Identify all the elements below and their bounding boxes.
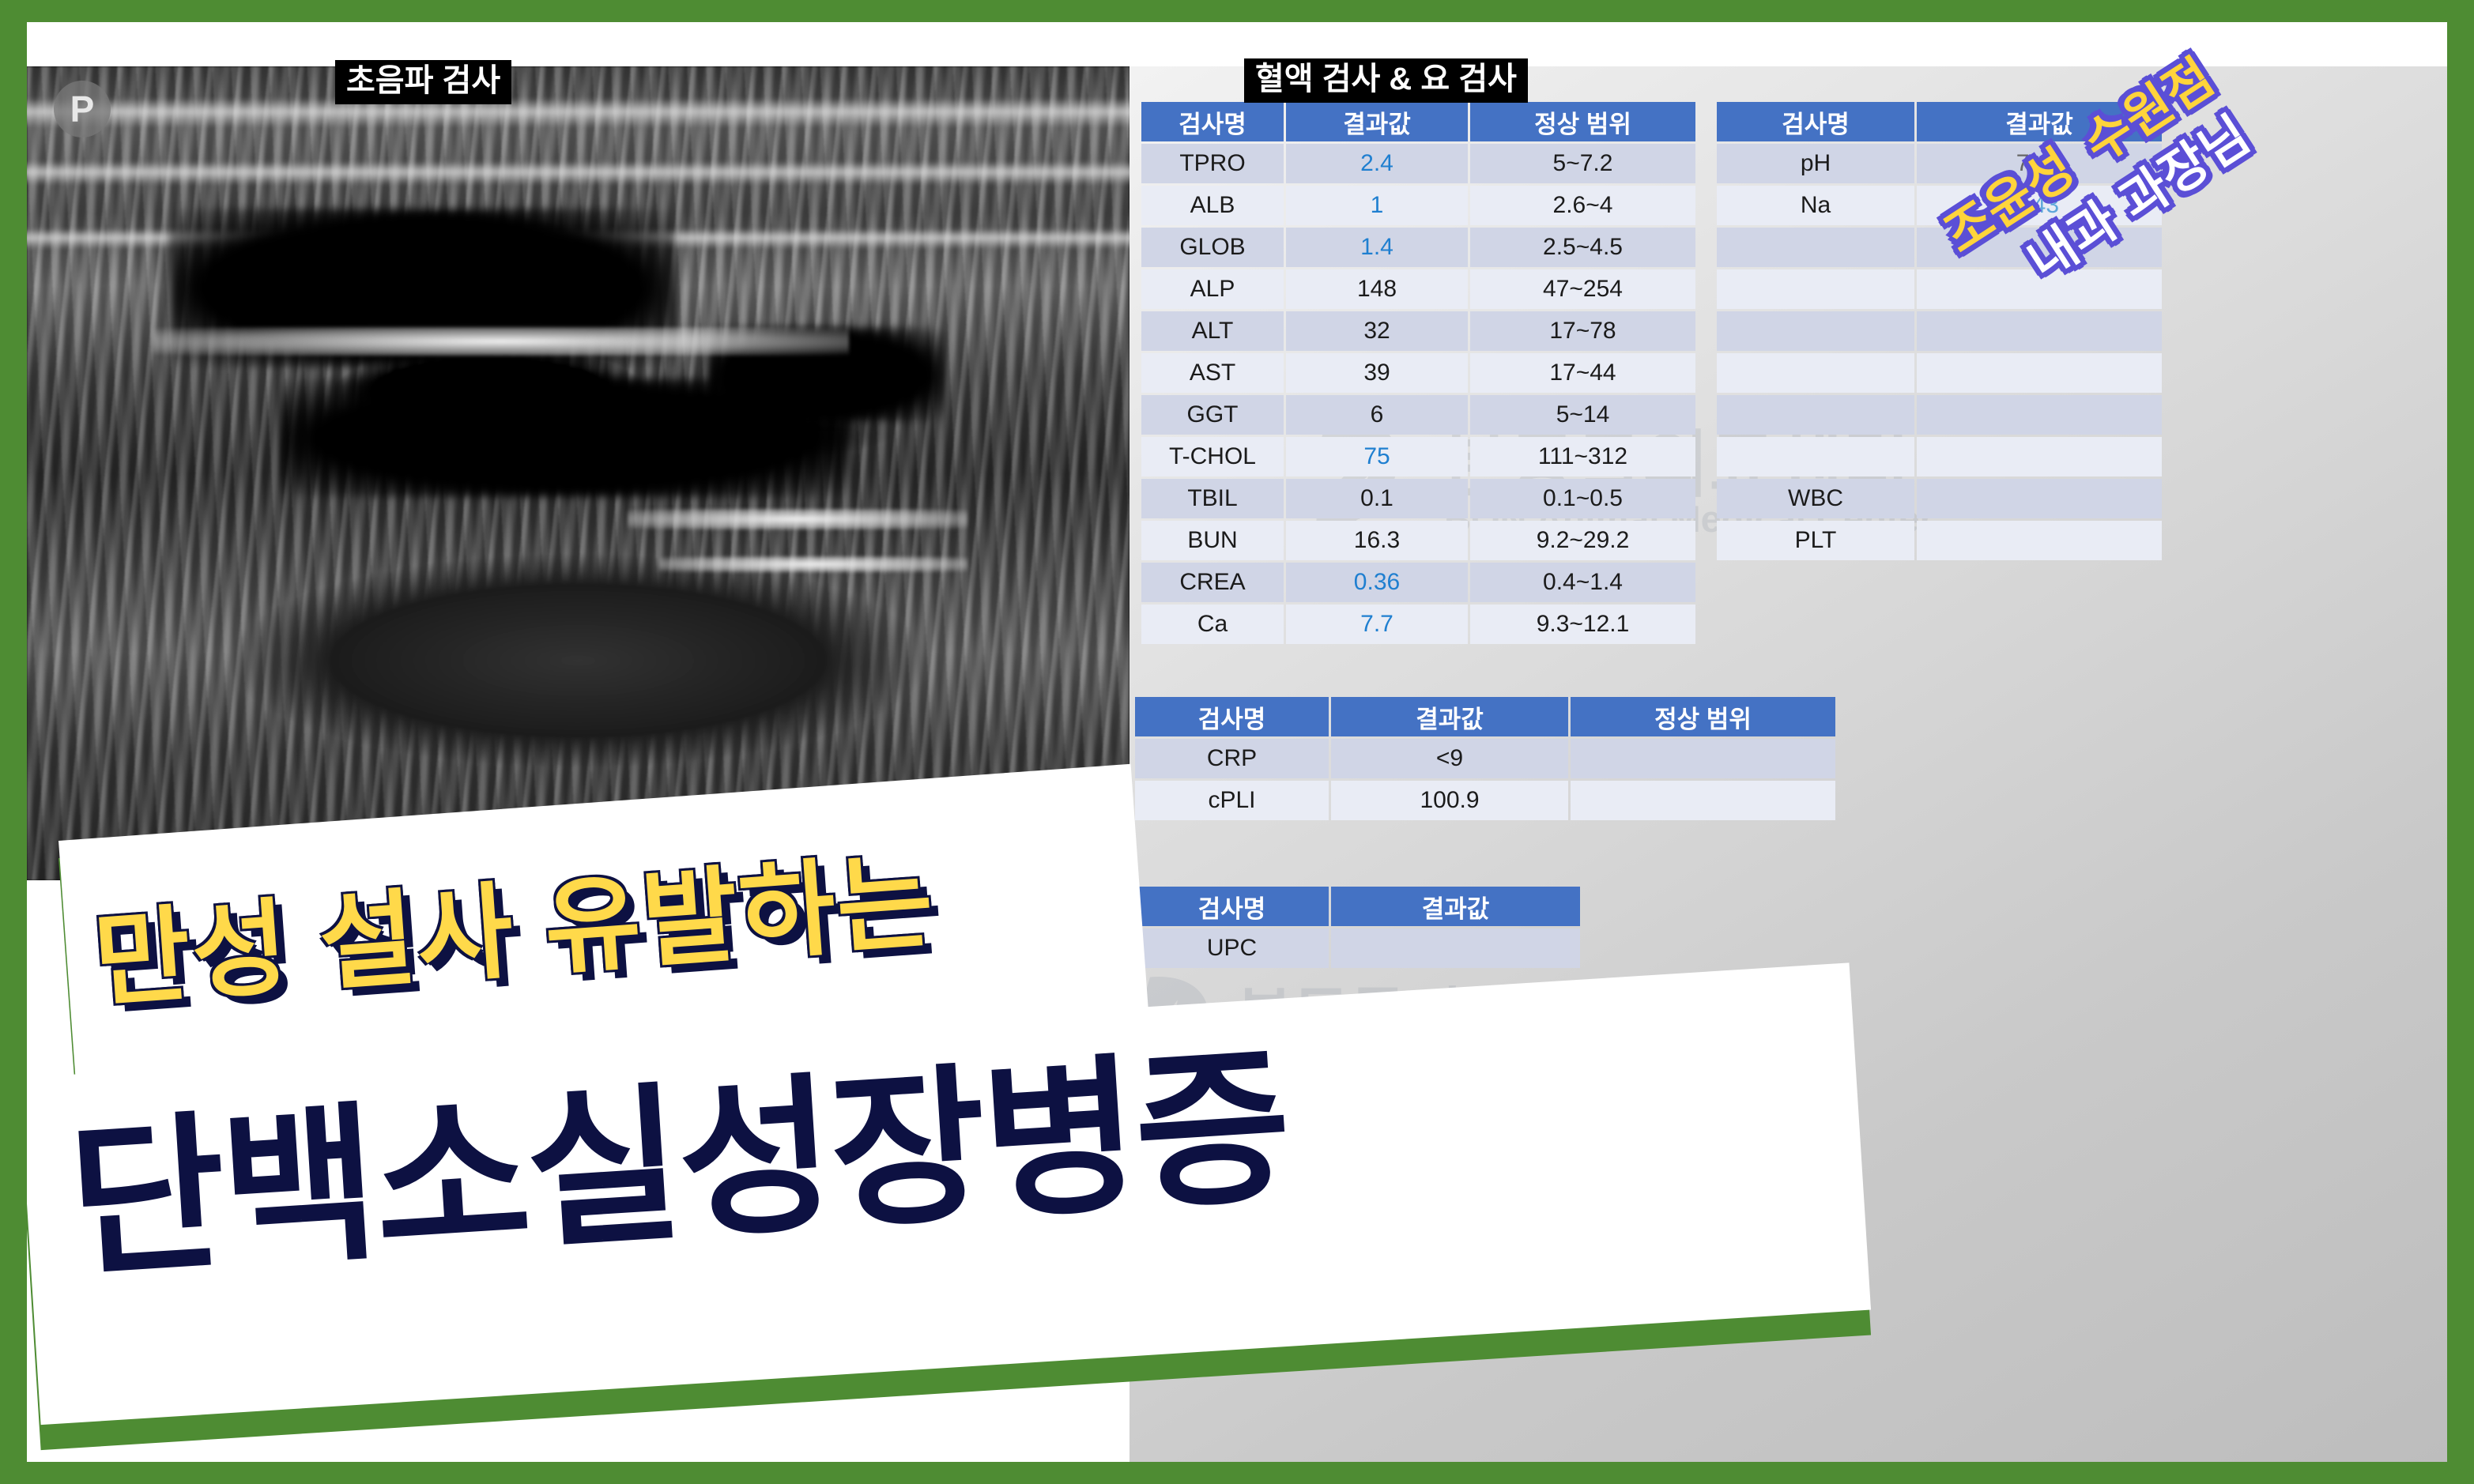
cell-result: 32 <box>1286 311 1468 351</box>
probe-orientation-marker: P <box>54 81 111 137</box>
cell-test-name: TBIL <box>1141 479 1284 518</box>
table-row: TBIL 0.1 0.1~0.5 <box>1141 479 1695 518</box>
cell-range: 111~312 <box>1470 437 1695 476</box>
ultrasound-tissue-band <box>27 161 1130 185</box>
cell-test-name: ALP <box>1141 269 1284 309</box>
column-header-result: 결과값 <box>1331 887 1580 926</box>
electrolyte-cbc-table: 검사명 결과값 pH 7.45 Na 143 <box>1714 100 2164 563</box>
table-row: WBC <box>1717 479 2162 518</box>
column-header-result: 결과값 <box>1331 697 1568 736</box>
cell-test-name: Na <box>1717 186 1914 225</box>
table-row <box>1717 311 2162 351</box>
table-row: AST 39 17~44 <box>1141 353 1695 393</box>
cell-test-name: ALB <box>1141 186 1284 225</box>
cell-range <box>1571 739 1835 778</box>
cell-range: 47~254 <box>1470 269 1695 309</box>
table-row: cPLI 100.9 <box>1135 781 1835 820</box>
table-row <box>1717 437 2162 476</box>
table-row: TPRO 2.4 5~7.2 <box>1141 144 1695 183</box>
cell-range: 0.4~1.4 <box>1470 563 1695 602</box>
ultrasound-tissue-band <box>27 98 1130 128</box>
chemistry-results-table: 검사명 결과값 정상 범위 TPRO 2.4 5~7.2 ALB 1 2.6~4 <box>1139 100 1698 646</box>
cell-result: 143 <box>1917 186 2162 225</box>
table-row: CREA 0.36 0.4~1.4 <box>1141 563 1695 602</box>
cell-test-name: CREA <box>1141 563 1284 602</box>
column-header-test-name: 검사명 <box>1135 887 1329 926</box>
table-row <box>1717 269 2162 309</box>
cell-range: 9.3~12.1 <box>1470 605 1695 644</box>
cell-test-name: GGT <box>1141 395 1284 435</box>
table-header-row: 검사명 결과값 정상 범위 <box>1141 102 1695 141</box>
bloodwork-section-label: 혈액 검사 & 요 검사 <box>1244 58 1528 103</box>
cell-test-name: TPRO <box>1141 144 1284 183</box>
cell-test-name: AST <box>1141 353 1284 393</box>
table-header-row: 검사명 결과값 정상 범위 <box>1135 697 1835 736</box>
cell-range: 2.6~4 <box>1470 186 1695 225</box>
probe-marker-label: P <box>70 88 95 130</box>
cell-test-name: pH <box>1717 144 1914 183</box>
table-row: Na 143 <box>1717 186 2162 225</box>
cell-test-name <box>1717 269 1914 309</box>
column-header-test-name: 검사명 <box>1141 102 1284 141</box>
cell-test-name: GLOB <box>1141 228 1284 267</box>
cell-result: 7.45 <box>1917 144 2162 183</box>
cell-test-name <box>1717 228 1914 267</box>
cell-result: 7.7 <box>1286 605 1468 644</box>
ultrasound-image: P <box>27 66 1130 880</box>
cell-result: 0.36 <box>1286 563 1468 602</box>
cell-result: <9 <box>1331 739 1568 778</box>
cell-result <box>1331 928 1580 968</box>
table-row: pH 7.45 <box>1717 144 2162 183</box>
table-row <box>1717 228 2162 267</box>
cell-range: 0.1~0.5 <box>1470 479 1695 518</box>
table-row: T-CHOL 75 111~312 <box>1141 437 1695 476</box>
cell-range: 5~14 <box>1470 395 1695 435</box>
table-row: UPC <box>1135 928 1580 968</box>
cell-test-name <box>1717 353 1914 393</box>
column-header-result: 결과값 <box>1917 102 2162 141</box>
cell-test-name: Ca <box>1141 605 1284 644</box>
cell-result <box>1917 437 2162 476</box>
cell-range: 5~7.2 <box>1470 144 1695 183</box>
table-row <box>1717 395 2162 435</box>
cell-result: 100.9 <box>1331 781 1568 820</box>
cell-result: 148 <box>1286 269 1468 309</box>
cell-range: 2.5~4.5 <box>1470 228 1695 267</box>
thumbnail-canvas: P 본동물의료센터 BON Animal Medical Center 본동물의… <box>0 0 2474 1484</box>
column-header-test-name: 검사명 <box>1135 697 1329 736</box>
cell-result: 75 <box>1286 437 1468 476</box>
cell-result <box>1917 521 2162 560</box>
cell-result: 1.4 <box>1286 228 1468 267</box>
cell-result <box>1917 228 2162 267</box>
column-header-test-name: 검사명 <box>1717 102 1914 141</box>
cell-result <box>1917 353 2162 393</box>
ultrasound-mucosa-line <box>659 556 967 572</box>
cell-test-name: ALT <box>1141 311 1284 351</box>
table-row: BUN 16.3 9.2~29.2 <box>1141 521 1695 560</box>
table-row: GGT 6 5~14 <box>1141 395 1695 435</box>
table-row <box>1717 353 2162 393</box>
cell-result: 39 <box>1286 353 1468 393</box>
cell-result: 6 <box>1286 395 1468 435</box>
cell-test-name <box>1717 395 1914 435</box>
cell-result <box>1917 311 2162 351</box>
table-header-row: 검사명 결과값 <box>1717 102 2162 141</box>
column-header-range: 정상 범위 <box>1470 102 1695 141</box>
cell-result: 1 <box>1286 186 1468 225</box>
column-header-result: 결과값 <box>1286 102 1468 141</box>
cell-test-name: CRP <box>1135 739 1329 778</box>
table-row: CRP <9 <box>1135 739 1835 778</box>
ultrasound-section-label: 초음파 검사 <box>335 60 511 104</box>
ultrasound-mucosa-line <box>628 509 967 529</box>
cell-result <box>1917 269 2162 309</box>
cell-range <box>1571 781 1835 820</box>
cell-range: 9.2~29.2 <box>1470 521 1695 560</box>
cell-test-name: WBC <box>1717 479 1914 518</box>
inflammation-results-table: 검사명 결과값 정상 범위 CRP <9 cPLI 100.9 <box>1133 695 1838 823</box>
cell-result <box>1917 395 2162 435</box>
cell-result: 16.3 <box>1286 521 1468 560</box>
cell-test-name: cPLI <box>1135 781 1329 820</box>
cell-range: 17~78 <box>1470 311 1695 351</box>
table-row: GLOB 1.4 2.5~4.5 <box>1141 228 1695 267</box>
ultrasound-mucosa-line <box>153 327 849 356</box>
cell-test-name: PLT <box>1717 521 1914 560</box>
cell-test-name: T-CHOL <box>1141 437 1284 476</box>
table-row: ALP 148 47~254 <box>1141 269 1695 309</box>
column-header-range: 정상 범위 <box>1571 697 1835 736</box>
table-row: ALT 32 17~78 <box>1141 311 1695 351</box>
table-row: ALB 1 2.6~4 <box>1141 186 1695 225</box>
cell-result <box>1917 479 2162 518</box>
cell-result: 2.4 <box>1286 144 1468 183</box>
cell-result: 0.1 <box>1286 479 1468 518</box>
cell-test-name <box>1717 311 1914 351</box>
table-header-row: 검사명 결과값 <box>1135 887 1580 926</box>
table-row: Ca 7.7 9.3~12.1 <box>1141 605 1695 644</box>
content-card: P 본동물의료센터 BON Animal Medical Center 본동물의… <box>27 22 2447 1462</box>
table-row: PLT <box>1717 521 2162 560</box>
cell-test-name: UPC <box>1135 928 1329 968</box>
cell-range: 17~44 <box>1470 353 1695 393</box>
cell-test-name <box>1717 437 1914 476</box>
cell-test-name: BUN <box>1141 521 1284 560</box>
urine-results-table: 검사명 결과값 UPC <box>1133 884 1582 970</box>
